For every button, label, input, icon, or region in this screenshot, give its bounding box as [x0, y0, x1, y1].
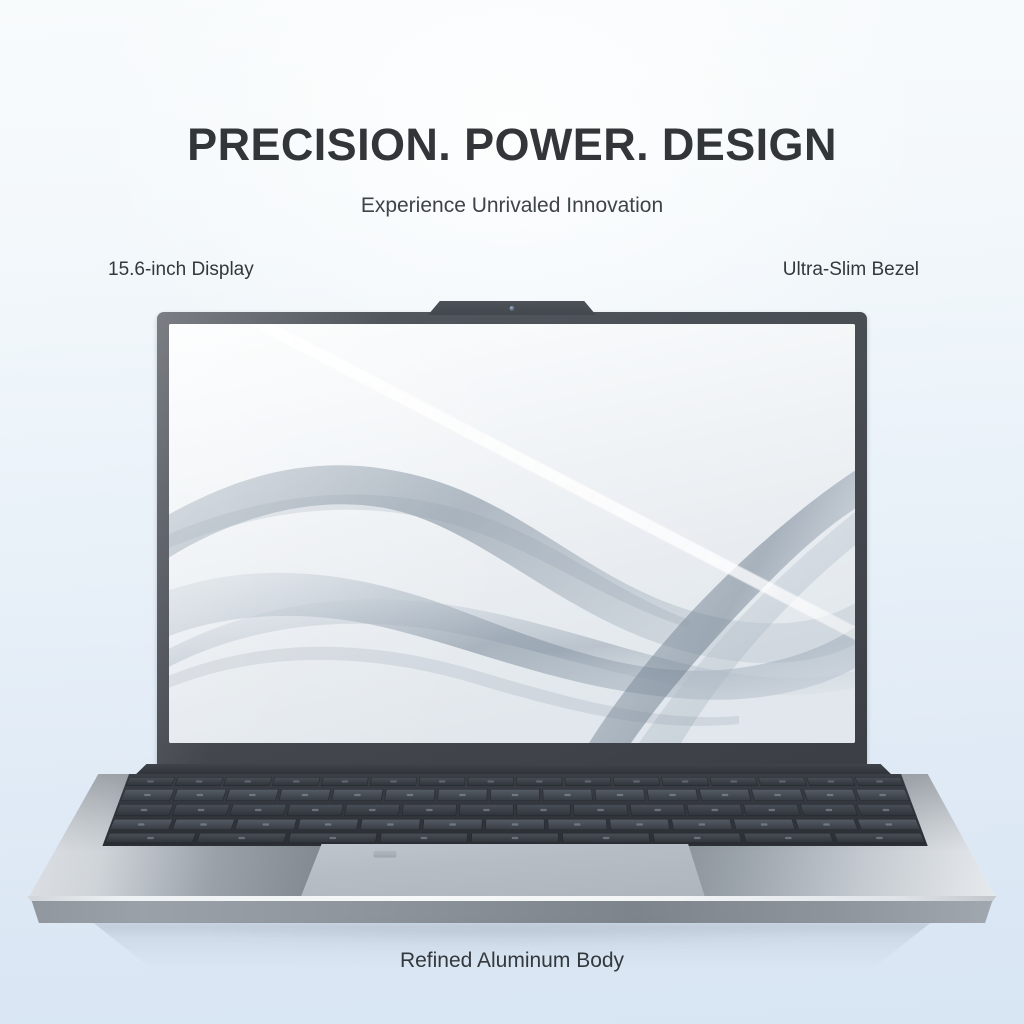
chassis-side-panel: [0, 901, 1024, 923]
laptop-illustration: [0, 0, 1024, 1024]
feature-label-body: Refined Aluminum Body: [0, 949, 1024, 973]
product-hero-banner: PRECISION. POWER. DESIGN Experience Unri…: [0, 0, 1024, 1024]
laptop-base: [0, 752, 1024, 942]
fingerprint-sensor-icon: [373, 850, 397, 858]
laptop-screen: [169, 324, 855, 743]
keyboard-keys: [0, 774, 1024, 846]
laptop-lid: [157, 312, 867, 778]
wallpaper-waves-icon: [169, 324, 855, 743]
webcam-icon: [510, 306, 515, 311]
